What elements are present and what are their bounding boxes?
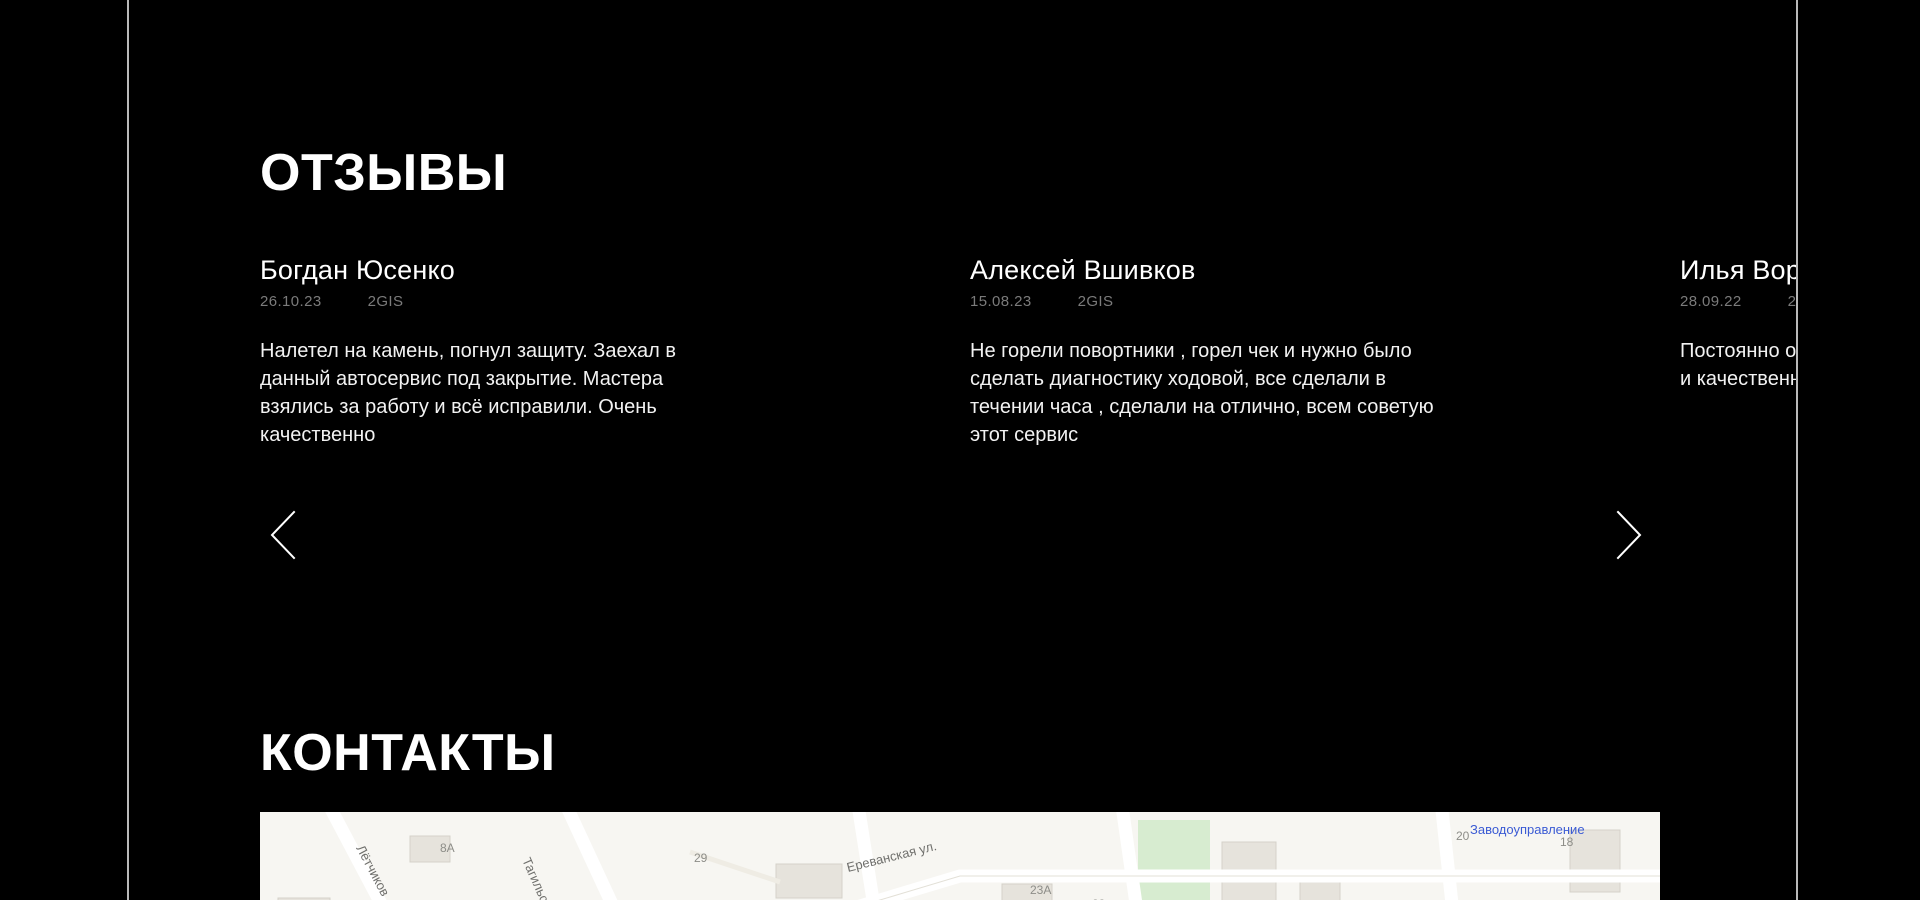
map-house-number: 8А xyxy=(440,841,455,855)
review-meta: 26.10.23 2GIS xyxy=(260,294,838,309)
map-house-number: 18 xyxy=(1560,835,1574,849)
review-date: 26.10.23 xyxy=(260,294,322,309)
review-text: Не горели повортники , горел чек и нужно… xyxy=(970,337,1440,449)
review-meta: 15.08.23 2GIS xyxy=(970,294,1548,309)
review-card: Алексей Вшивков 15.08.23 2GIS Не горели … xyxy=(838,255,1548,449)
review-author: Илья Воронин xyxy=(1680,255,1796,286)
review-source: 2GIS xyxy=(368,294,404,309)
map-house-number: 29 xyxy=(694,851,708,865)
chevron-right-icon xyxy=(1600,500,1654,570)
reviews-slider[interactable]: Богдан Юсенко 26.10.23 2GIS Налетел на к… xyxy=(128,255,1796,465)
reviews-prev-button[interactable] xyxy=(258,500,312,570)
map-poi-label: Заводоуправление xyxy=(1470,822,1585,837)
page-content: ОТЗЫВЫ Богдан Юсенко 26.10.23 2GIS Налет… xyxy=(0,0,1920,900)
review-source: 2GIS xyxy=(1788,294,1796,309)
review-text: Постоянно обслуживаюсь здесь, все операт… xyxy=(1680,337,1796,393)
reviews-slider-track: Богдан Юсенко 26.10.23 2GIS Налетел на к… xyxy=(128,255,1796,449)
reviews-next-button[interactable] xyxy=(1600,500,1654,570)
review-date: 28.09.22 xyxy=(1680,294,1742,309)
map-canvas[interactable]: 8А 8 29 27 25 21Б 23А 23 19 20 18 17 16 … xyxy=(260,812,1660,900)
review-author: Алексей Вшивков xyxy=(970,255,1548,286)
map-house-number: 20 xyxy=(1456,829,1470,843)
map-house-number: 23А xyxy=(1030,883,1051,897)
contacts-section-title: КОНТАКТЫ xyxy=(260,727,555,779)
page-root: ОТЗЫВЫ Богдан Юсенко 26.10.23 2GIS Налет… xyxy=(0,0,1920,900)
review-text: Налетел на камень, погнул защиту. Заехал… xyxy=(260,337,730,449)
review-meta: 28.09.22 2GIS xyxy=(1680,294,1796,309)
review-author: Богдан Юсенко xyxy=(260,255,838,286)
review-date: 15.08.23 xyxy=(970,294,1032,309)
reviews-section-title: ОТЗЫВЫ xyxy=(260,147,507,199)
review-source: 2GIS xyxy=(1078,294,1114,309)
contacts-map[interactable]: 8А 8 29 27 25 21Б 23А 23 19 20 18 17 16 … xyxy=(260,812,1660,900)
review-card: Богдан Юсенко 26.10.23 2GIS Налетел на к… xyxy=(128,255,838,449)
review-card: Илья Воронин 28.09.22 2GIS Постоянно обс… xyxy=(1548,255,1796,449)
chevron-left-icon xyxy=(258,500,312,570)
